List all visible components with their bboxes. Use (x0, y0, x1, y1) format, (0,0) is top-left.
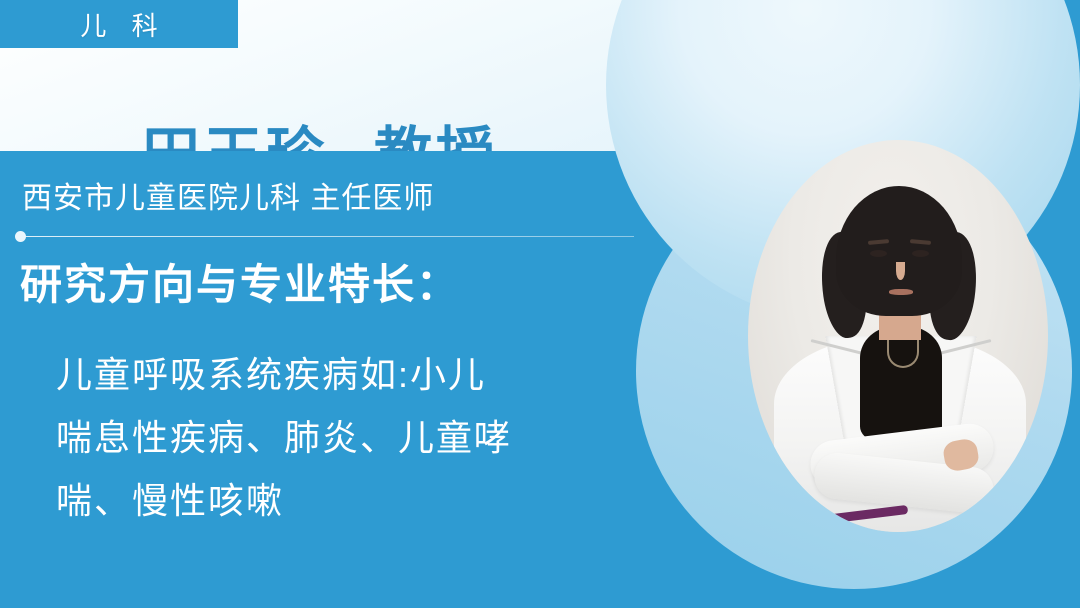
doctor-profile-poster: 儿 科 田玉珍教授 西安市儿童医院儿科 主任医师 研究方向与专业特长： 儿童呼吸… (0, 0, 1080, 608)
portrait-illustration (748, 140, 1048, 532)
department-tag: 儿 科 (0, 0, 238, 48)
divider-line (22, 236, 634, 237)
mouth (889, 289, 913, 295)
doctor-portrait (748, 140, 1048, 532)
nose (896, 262, 905, 280)
specialty-line: 喘、慢性咳嗽 (56, 469, 512, 532)
section-title: 研究方向与专业特长： (20, 251, 460, 312)
bullet-dot-icon (15, 231, 26, 242)
necklace (887, 336, 919, 368)
eye-right (912, 250, 929, 257)
specialty-list: 儿童呼吸系统疾病如:小儿 喘息性疾病、肺炎、儿童哮 喘、慢性咳嗽 (56, 343, 512, 532)
specialty-line: 喘息性疾病、肺炎、儿童哮 (56, 406, 512, 469)
eye-left (870, 250, 887, 257)
specialty-line: 儿童呼吸系统疾病如:小儿 (56, 343, 512, 406)
hair-top (836, 186, 962, 316)
affiliation-text: 西安市儿童医院儿科 主任医师 (22, 173, 434, 217)
